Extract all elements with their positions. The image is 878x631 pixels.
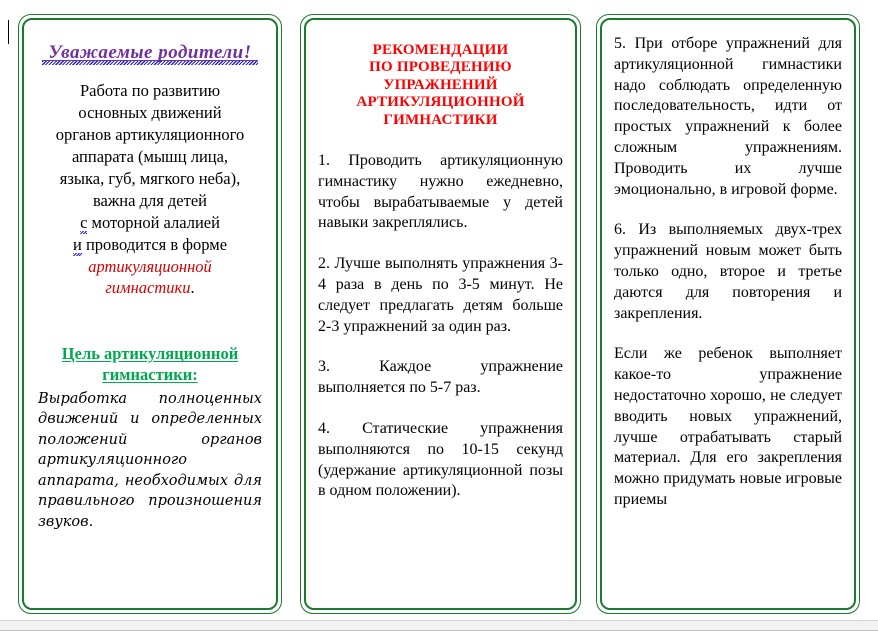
recommendation-item: 3. Каждое упражнение выполняется по 5-7 … [318,357,563,399]
recommendations-list-left: 1. Проводить артикуляционную гимнастику … [318,151,563,502]
goal-heading-line-1: Цель артикуляционной [62,344,238,363]
recommendations-list-right: 5. При отборе упражнений для артикуляцио… [614,34,842,511]
brochure-panel-left: Уважаемые родители! Работа по развитию о… [18,14,282,614]
lead-accent-line-2: гимнастики [105,278,190,297]
page-bottom-edge [0,620,878,631]
recommendation-item: 5. При отборе упражнений для артикуляцио… [614,34,842,200]
goal-heading: Цель артикуляционной гимнастики: [38,343,262,385]
panel-left-title: Уважаемые родители! [36,42,264,64]
recommendation-item: 1. Проводить артикуляционную гимнастику … [318,151,563,234]
lead-line-7: моторной алалией [87,213,220,232]
grammar-marked-word-s: с [80,213,87,232]
goal-heading-line-2: гимнастики: [102,365,197,384]
recommendations-heading-line-4: АРТИКУЛЯЦИОННОЙ [356,94,524,110]
brochure-panel-middle: РЕКОМЕНДАЦИИ ПО ПРОВЕДЕНИЮ УПРАЖНЕНИЙ АР… [300,14,581,614]
lead-accent-line-1: артикуляционной [88,257,212,276]
panel-left-lead-paragraph: Работа по развитию основных движений орг… [40,80,260,299]
grammar-marked-word-i: и [73,235,82,254]
brochure-panel-right: 5. При отборе упражнений для артикуляцио… [596,14,860,614]
lead-line-8: проводится в форме [82,235,227,254]
recommendation-item: 2. Лучше выполнять упражнения 3-4 раза в… [318,254,563,337]
lead-line-5: языка, губ, мягкого неба), [60,169,240,188]
recommendations-heading-line-2: ПО ПРОВЕДЕНИЮ [369,59,512,75]
document-page: Уважаемые родители! Работа по развитию о… [0,0,878,620]
recommendations-heading-line-5: ГИМНАСТИКИ [383,112,497,128]
goal-body-text: Выработка полноценных движений и определ… [38,389,262,533]
lead-line-1: Работа по развитию [80,81,220,100]
lead-line-6: важна для детей [93,191,207,210]
panel-right-content: 5. При отборе упражнений для артикуляцио… [600,18,856,610]
recommendations-heading-line-3: УПРАЖНЕНИЙ [383,77,497,93]
recommendations-heading: РЕКОМЕНДАЦИИ ПО ПРОВЕДЕНИЮ УПРАЖНЕНИЙ АР… [322,42,559,129]
panel-left-content: Уважаемые родители! Работа по развитию о… [22,18,278,610]
recommendations-heading-line-1: РЕКОМЕНДАЦИИ [373,42,509,58]
lead-line-3: органов артикуляционного [56,125,245,144]
panel-middle-content: РЕКОМЕНДАЦИИ ПО ПРОВЕДЕНИЮ УПРАЖНЕНИЙ АР… [304,18,577,610]
text-caret [8,20,9,44]
lead-line-2: основных движений [78,103,221,122]
lead-accent-period: . [191,278,195,297]
spellcheck-wavy-underline [42,61,258,65]
recommendation-item: 6. Из выполняемых двух-трех упражнений н… [614,220,842,324]
recommendation-item: 4. Статические упражнения выполняются по… [318,419,563,502]
lead-line-4: аппарата (мышц лица, [72,147,228,166]
recommendation-item: Если же ребенок выполняет какое-то упраж… [614,344,842,510]
